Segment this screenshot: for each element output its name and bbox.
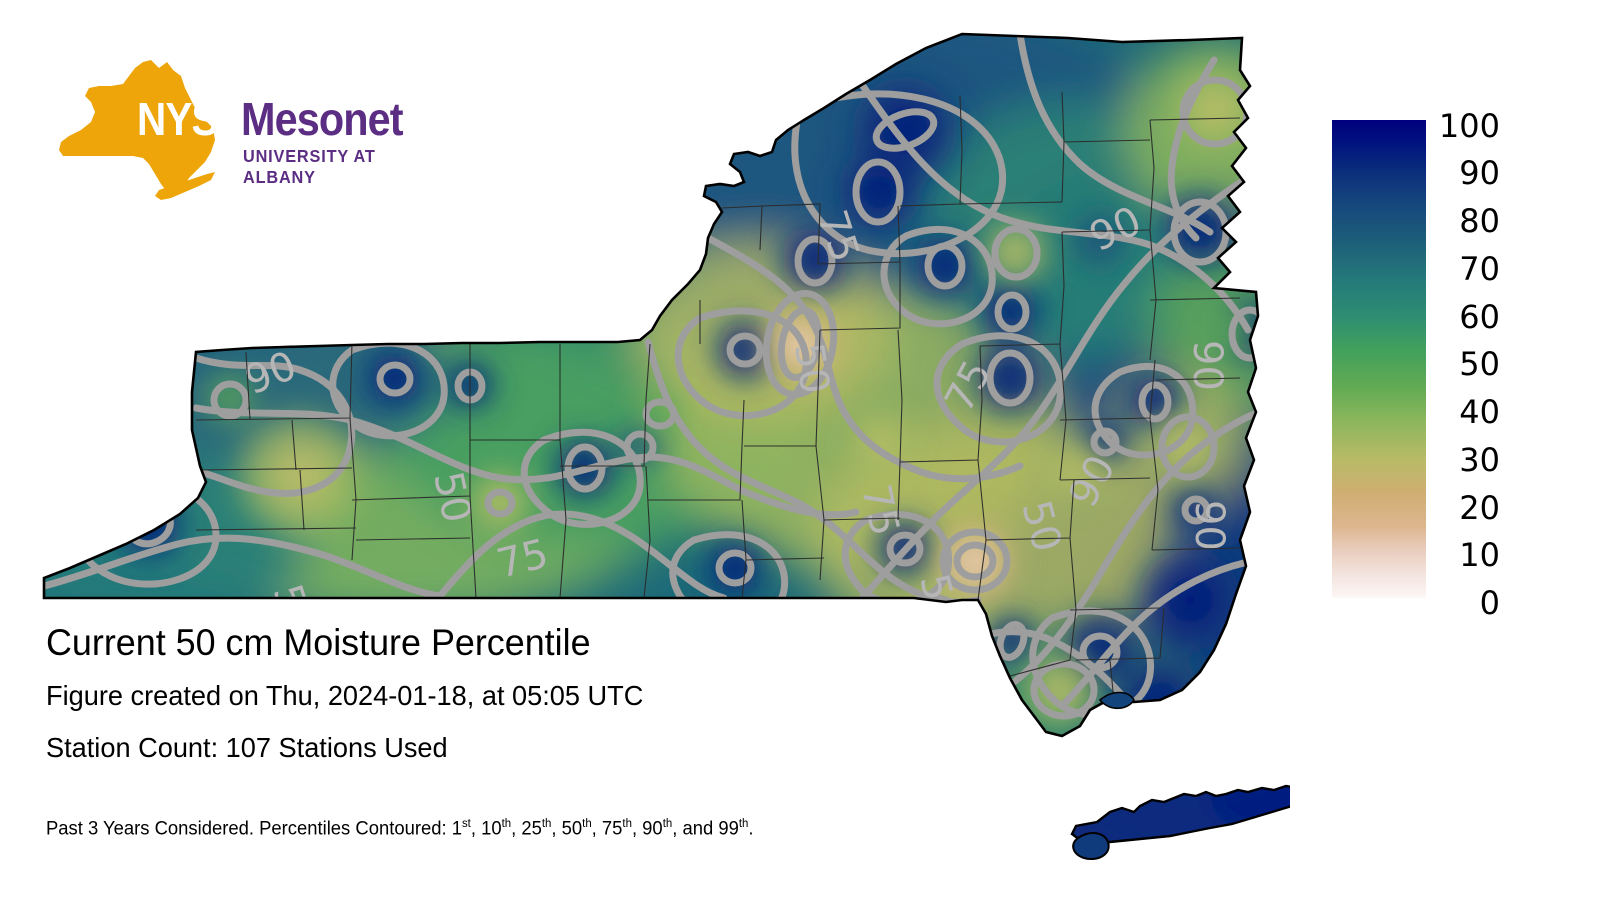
page-title: Current 50 cm Moisture Percentile bbox=[46, 620, 1016, 666]
svg-text:90: 90 bbox=[1184, 340, 1230, 391]
created-timestamp: Figure created on Thu, 2024-01-18, at 05… bbox=[46, 674, 1016, 718]
footnote-p7-suffix: th bbox=[739, 817, 749, 830]
colorbar-tick-20: 20 bbox=[1390, 492, 1500, 524]
footnote-p2: 10 bbox=[481, 818, 502, 839]
svg-text:90: 90 bbox=[1186, 500, 1232, 551]
colorbar-tick-50: 50 bbox=[1390, 348, 1500, 380]
logo-mesonet-text: Mesonet bbox=[241, 94, 403, 144]
colorbar-tick-100: 100 bbox=[1390, 110, 1500, 142]
footnote-end: . bbox=[748, 818, 753, 839]
station-count: Station Count: 107 Stations Used bbox=[46, 726, 1016, 770]
contour-footnote: Past 3 Years Considered. Percentiles Con… bbox=[46, 817, 753, 840]
footnote-p4-suffix: th bbox=[582, 817, 592, 830]
logo-nys-text: NYS bbox=[137, 94, 218, 144]
colorbar-tick-40: 40 bbox=[1390, 396, 1500, 428]
footnote-p3-suffix: th bbox=[542, 817, 552, 830]
logo-university-text: UNIVERSITY AT ALBANY bbox=[243, 146, 391, 188]
caption-block: Current 50 cm Moisture Percentile Figure… bbox=[46, 620, 1046, 770]
colorbar-tick-60: 60 bbox=[1390, 301, 1500, 333]
colorbar-tick-70: 70 bbox=[1390, 253, 1500, 285]
colorbar-tick-30: 30 bbox=[1390, 444, 1500, 476]
colorbar-tick-10: 10 bbox=[1390, 539, 1500, 571]
colorbar-tick-labels: 100 90 80 70 60 50 40 30 20 10 0 bbox=[1380, 105, 1500, 615]
footnote-p7: 99 bbox=[718, 818, 739, 839]
footnote-p1: 1 bbox=[452, 818, 462, 839]
footnote-p4: 50 bbox=[562, 818, 583, 839]
footnote-p5: 75 bbox=[602, 818, 623, 839]
colorbar-tick-80: 80 bbox=[1390, 205, 1500, 237]
footnote-and: and bbox=[682, 818, 718, 839]
footnote-p6-suffix: th bbox=[663, 817, 673, 830]
footnote-p2-suffix: th bbox=[502, 817, 512, 830]
svg-text:50: 50 bbox=[785, 340, 838, 397]
footnote-p1-suffix: st bbox=[462, 817, 471, 830]
nys-mesonet-logo: NYS Mesonet UNIVERSITY AT ALBANY bbox=[55, 58, 400, 208]
colorbar-tick-90: 90 bbox=[1390, 157, 1500, 189]
footnote-prefix: Past 3 Years Considered. Percentiles Con… bbox=[46, 818, 452, 839]
footnote-p6: 90 bbox=[642, 818, 663, 839]
footnote-p3: 25 bbox=[521, 818, 542, 839]
colorbar-tick-0: 0 bbox=[1390, 587, 1500, 619]
footnote-p5-suffix: th bbox=[622, 817, 632, 830]
